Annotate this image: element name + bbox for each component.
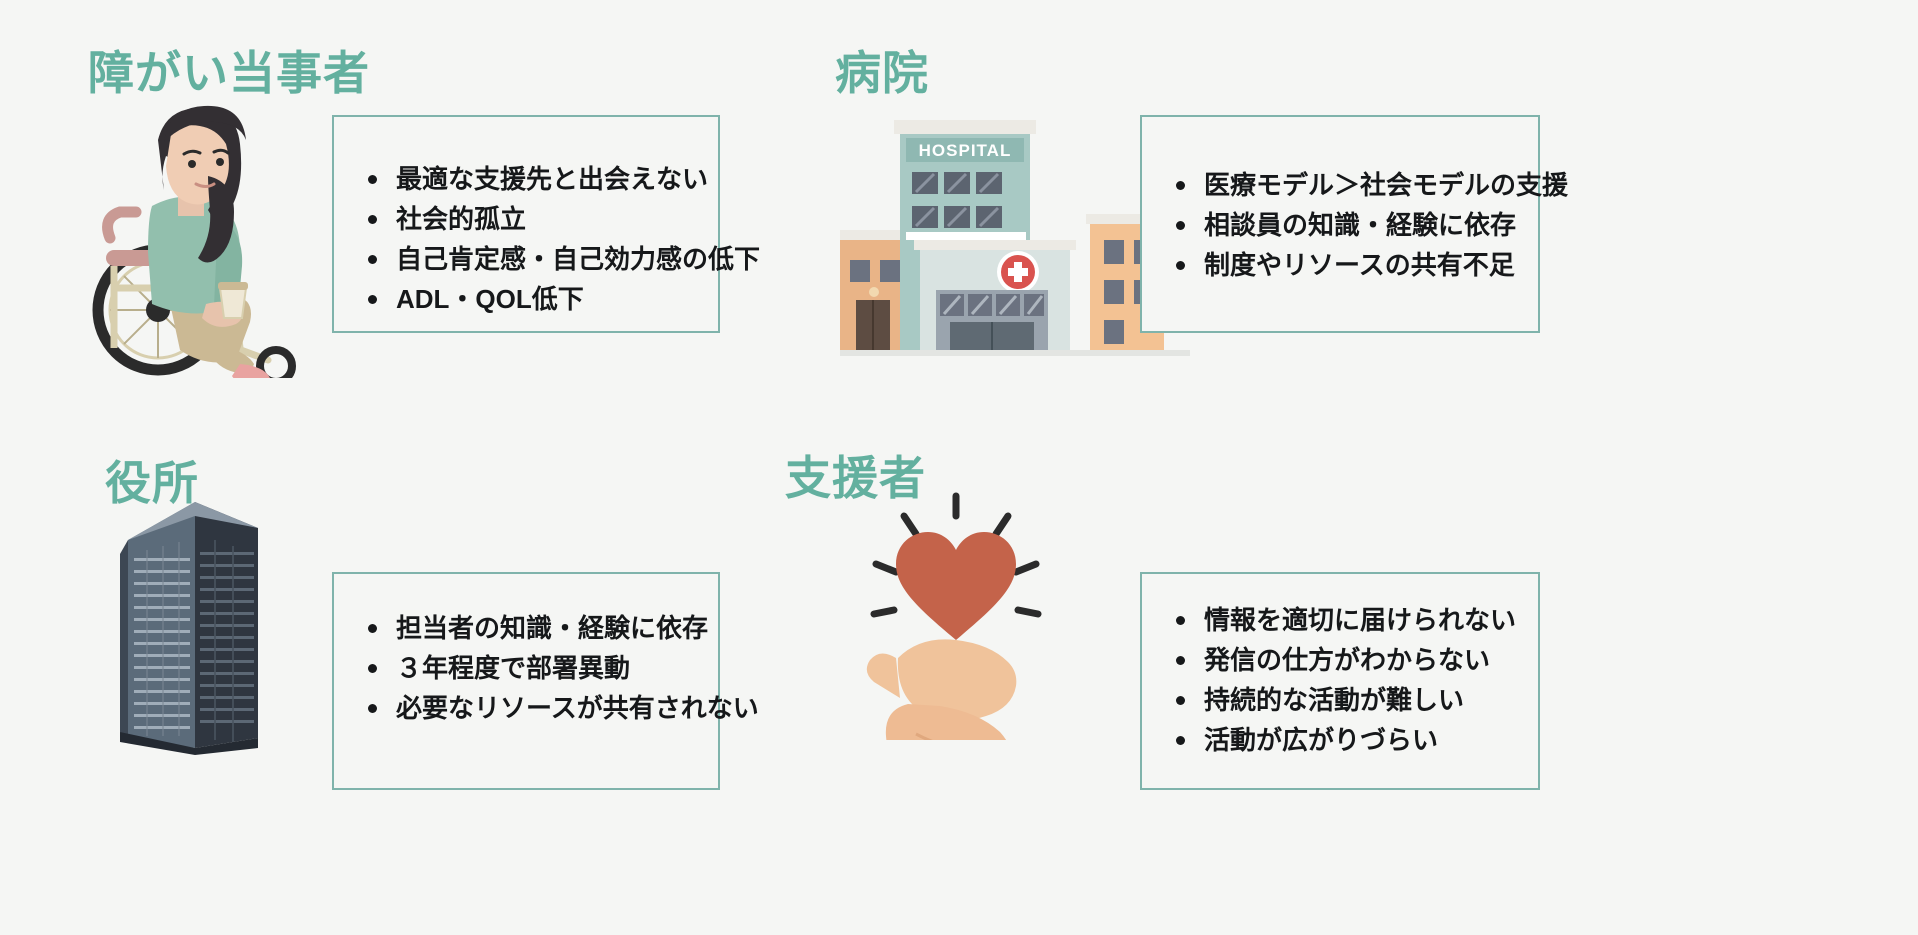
list-item: 制度やリソースの共有不足 (1164, 245, 1544, 285)
wheelchair-user-illustration (80, 98, 330, 378)
list-item: 自己肯定感・自己効力感の低下 (356, 239, 736, 279)
supporter-bullet-card: 情報を適切に届けられない 発信の仕方がわからない 持続的な活動が難しい 活動が広… (1140, 572, 1540, 790)
cityhall-bullet-list: 担当者の知識・経験に依存 ３年程度で部署異動 必要なリソースが共有されない (356, 608, 736, 728)
quadrant-hospital: 病院 (950, 30, 1880, 450)
quadrant-supporter: 支援者 (950, 480, 1880, 900)
slide-canvas: 障がい当事者 (0, 0, 1918, 935)
cityhall-bullet-card: 担当者の知識・経験に依存 ３年程度で部署異動 必要なリソースが共有されない (332, 572, 720, 790)
svg-text:HOSPITAL: HOSPITAL (919, 141, 1012, 160)
list-item: 相談員の知識・経験に依存 (1164, 205, 1544, 245)
list-item: 社会的孤立 (356, 199, 736, 239)
list-item: 活動が広がりづらい (1164, 720, 1544, 760)
person-bullet-list: 最適な支援先と出会えない 社会的孤立 自己肯定感・自己効力感の低下 ADL・QO… (356, 159, 736, 319)
list-item: 情報を適切に届けられない (1164, 600, 1544, 640)
list-item: 発信の仕方がわからない (1164, 640, 1544, 680)
supporter-bullet-list: 情報を適切に届けられない 発信の仕方がわからない 持続的な活動が難しい 活動が広… (1164, 600, 1544, 760)
list-item: 持続的な活動が難しい (1164, 680, 1544, 720)
government-office-building-illustration (90, 480, 290, 755)
list-item: 最適な支援先と出会えない (356, 159, 736, 199)
quadrant-hospital-heading: 病院 (835, 50, 929, 96)
hospital-building-illustration: HOSPITAL (840, 110, 1190, 360)
hospital-bullet-card: 医療モデル＞社会モデルの支援 相談員の知識・経験に依存 制度やリソースの共有不足 (1140, 115, 1540, 333)
list-item: ３年程度で部署異動 (356, 648, 736, 688)
heart-in-hand-illustration (840, 490, 1070, 740)
list-item: ADL・QOL低下 (356, 279, 736, 319)
quadrant-person-heading: 障がい当事者 (88, 50, 370, 96)
person-bullet-card: 最適な支援先と出会えない 社会的孤立 自己肯定感・自己効力感の低下 ADL・QO… (332, 115, 720, 333)
quadrant-person: 障がい当事者 (60, 30, 960, 450)
quadrant-cityhall: 役所 (60, 480, 960, 900)
list-item: 医療モデル＞社会モデルの支援 (1164, 165, 1544, 205)
list-item: 必要なリソースが共有されない (356, 688, 736, 728)
list-item: 担当者の知識・経験に依存 (356, 608, 736, 648)
hospital-bullet-list: 医療モデル＞社会モデルの支援 相談員の知識・経験に依存 制度やリソースの共有不足 (1164, 165, 1544, 285)
